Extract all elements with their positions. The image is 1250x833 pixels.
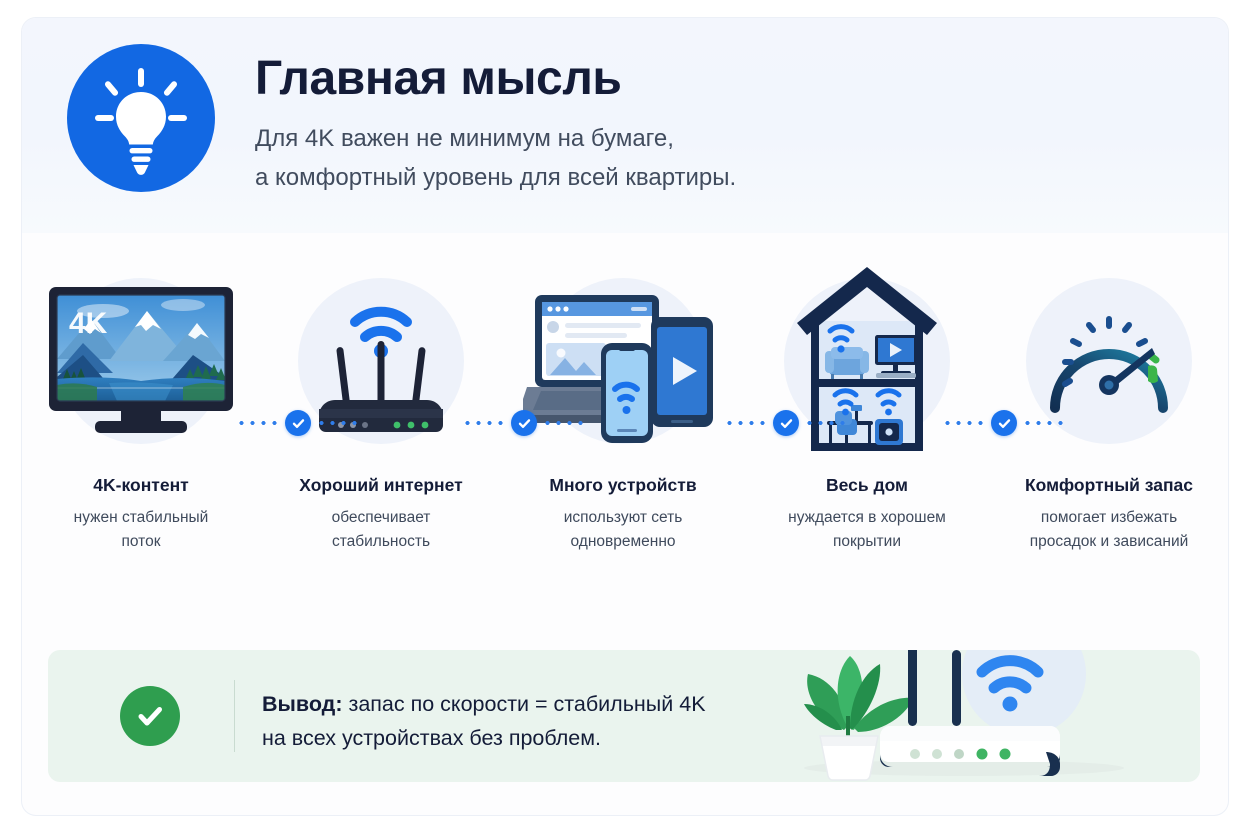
infographic-card: Главная мысль Для 4K важен не минимум на… (22, 18, 1228, 815)
dotted-line (804, 421, 848, 425)
check-circle-icon (991, 410, 1017, 436)
step-desc-line-1: используют сеть (564, 509, 683, 526)
step-title: Много устройств (514, 475, 732, 496)
step-desc-line-2: просадок и зависаний (1030, 533, 1189, 550)
step-desc-line-1: помогает избежать (1041, 509, 1177, 526)
subtitle-line-2: а комфортный уровень для всей квартиры. (255, 164, 736, 191)
conclusion-label: Вывод: (262, 692, 342, 716)
check-circle-icon (773, 410, 799, 436)
step-title: Хороший интернет (272, 475, 490, 496)
step-item-whole-house: Весь дом нуждается в хорошем покрытии (758, 258, 976, 553)
conclusion-line-1: запас по скорости = стабильный 4K (342, 692, 705, 716)
dotted-line (942, 421, 986, 425)
step-desc-line-2: стабильность (332, 533, 430, 550)
step-item-many-devices: Много устройств используют сеть одноврем… (514, 258, 732, 553)
step-title: 4K-контент (32, 475, 250, 496)
step-title: Комфортный запас (1000, 475, 1218, 496)
dotted-line (724, 421, 768, 425)
dotted-line (1022, 421, 1066, 425)
subtitle-line-1: Для 4K важен не минимум на бумаге, (255, 125, 674, 152)
connector-1 (236, 410, 360, 436)
router-plant-icon (774, 650, 1200, 782)
step-desc-line-1: обеспечивает (332, 509, 431, 526)
vertical-divider (234, 680, 235, 752)
step-title: Весь дом (758, 475, 976, 496)
conclusion-line-2: на всех устройствах без проблем. (262, 726, 601, 750)
header-band: Главная мысль Для 4K важен не минимум на… (22, 18, 1228, 233)
steps-row: 4K 4K-контент нужен стабильный поток (22, 258, 1228, 618)
dotted-line (462, 421, 506, 425)
step-desc-line-1: нужен стабильный (74, 509, 209, 526)
step-desc-line-2: поток (122, 533, 161, 550)
check-circle-icon (511, 410, 537, 436)
dotted-line (236, 421, 280, 425)
check-circle-icon (285, 410, 311, 436)
step-desc-line-2: покрытии (833, 533, 901, 550)
step-item-comfort-margin: Комфортный запас помогает избежать проса… (1000, 258, 1218, 553)
conclusion-banner: Вывод: запас по скорости = стабильный 4K… (48, 650, 1200, 782)
dotted-line (316, 421, 360, 425)
connector-2 (462, 410, 586, 436)
step-desc-line-2: одновременно (571, 533, 676, 550)
check-circle-green-icon (120, 686, 180, 746)
tv-screen-4k-label: 4K (69, 307, 108, 340)
lightbulb-icon (67, 44, 215, 192)
connector-4 (942, 410, 1066, 436)
conclusion-text: Вывод: запас по скорости = стабильный 4K… (262, 687, 706, 756)
connector-3 (724, 410, 848, 436)
step-item-4k-content: 4K 4K-контент нужен стабильный поток (32, 258, 250, 553)
infographic-canvas: Главная мысль Для 4K важен не минимум на… (0, 0, 1250, 833)
step-desc-line-1: нуждается в хорошем (788, 509, 946, 526)
dotted-line (542, 421, 586, 425)
page-title: Главная мысль (255, 52, 736, 106)
step-item-good-internet: Хороший интернет обеспечивает стабильнос… (272, 258, 490, 553)
tv-4k-icon: 4K (32, 258, 250, 463)
